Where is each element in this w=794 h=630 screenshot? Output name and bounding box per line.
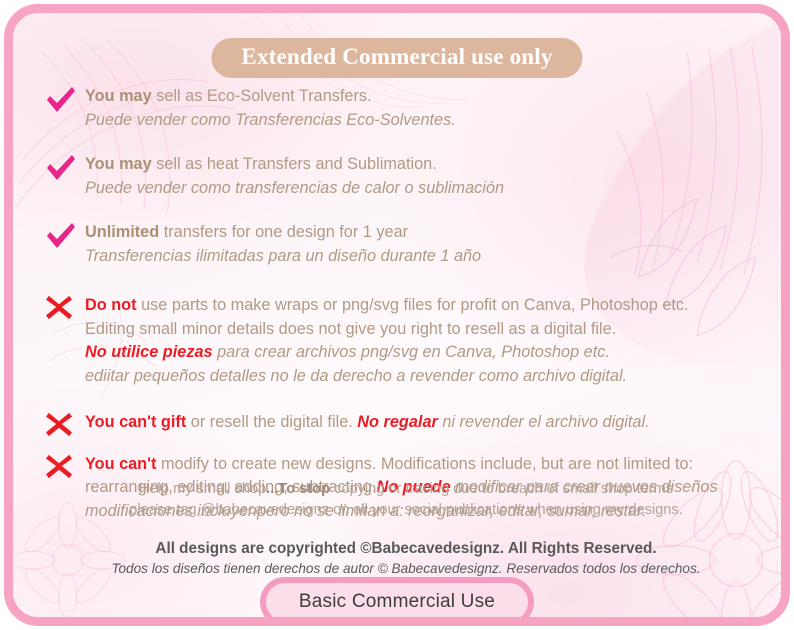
rule-line: Unlimited transfers for one design for 1… xyxy=(85,221,777,245)
rule-text-segment: You can't gift xyxy=(85,413,191,431)
rule-text: You may sell as heat Transfers and Subli… xyxy=(85,153,777,200)
rule-item: You may sell as heat Transfers and Subli… xyxy=(13,153,790,200)
shop-note-1a: Help my small shop xyxy=(139,481,266,497)
copyright-block: All designs are copyrighted ©Babecavedes… xyxy=(13,538,790,579)
rule-text-segment: transfers for one design for 1 year xyxy=(164,223,408,241)
rule-line: Editing small minor details does not giv… xyxy=(85,318,777,342)
rule-line: Do not use parts to make wraps or png/sv… xyxy=(85,294,777,318)
shop-note-line-1: Help my small shop...To stop copying or … xyxy=(13,479,790,500)
rule-text-segment: sell as Eco-Solvent Transfers. xyxy=(156,87,371,105)
rule-text-segment: ni revender el archivo digital. xyxy=(442,413,649,431)
rule-text: You can't gift or resell the digital fil… xyxy=(85,411,777,435)
shop-note: Help my small shop...To stop copying or … xyxy=(13,479,790,521)
rules-list: You may sell as Eco-Solvent Transfers.Pu… xyxy=(13,85,790,525)
copyright-en: All designs are copyrighted ©Babecavedes… xyxy=(13,538,790,559)
rule-text-segment: No regalar xyxy=(357,413,442,431)
rule-text-segment: ediitar pequeños detalles no le da derec… xyxy=(85,367,627,385)
header-title: Extended Commercial use only xyxy=(241,44,552,69)
check-icon xyxy=(45,85,77,115)
rule-text-segment: No utilice piezas xyxy=(85,343,217,361)
rule-text-segment: Unlimited xyxy=(85,223,164,241)
x-icon xyxy=(45,453,77,483)
rule-line: Puede vender como Transferencias Eco-Sol… xyxy=(85,109,777,133)
rule-line: Transferencias ilimitadas para un diseño… xyxy=(85,245,777,269)
check-icon xyxy=(45,221,77,251)
rule-text-segment: Do not xyxy=(85,296,141,314)
license-terms-card: Extended Commercial use only You may sel… xyxy=(4,4,790,626)
rule-text-segment: or resell the digital file. xyxy=(191,413,358,431)
rule-text-segment: Transferencias ilimitadas para un diseño… xyxy=(85,247,481,265)
rule-line: You may sell as Eco-Solvent Transfers. xyxy=(85,85,777,109)
x-icon xyxy=(45,294,77,324)
header-banner: Extended Commercial use only xyxy=(211,38,582,78)
rule-line: You can't gift or resell the digital fil… xyxy=(85,411,777,435)
basic-commercial-use-label: Basic Commercial Use xyxy=(299,591,495,613)
rule-item: Do not use parts to make wraps or png/sv… xyxy=(13,294,790,388)
rule-text-segment: modify to create new designs. Modificati… xyxy=(161,455,693,473)
check-icon xyxy=(45,153,77,183)
rule-text-segment: sell as heat Transfers and Sublimation. xyxy=(156,155,437,173)
rule-line: No utilice piezas para crear archivos pn… xyxy=(85,341,777,365)
rule-item: You can't gift or resell the digital fil… xyxy=(13,411,790,435)
rule-text-segment: Puede vender como Transferencias Eco-Sol… xyxy=(85,111,456,129)
rule-text-segment: You may xyxy=(85,155,156,173)
x-icon xyxy=(45,411,77,441)
rule-line: Puede vender como transferencias de calo… xyxy=(85,177,777,201)
rule-text: You may sell as Eco-Solvent Transfers.Pu… xyxy=(85,85,777,132)
rule-text-segment: Editing small minor details does not giv… xyxy=(85,320,616,338)
rule-text: Unlimited transfers for one design for 1… xyxy=(85,221,777,268)
rule-item: You may sell as Eco-Solvent Transfers.Pu… xyxy=(13,85,790,132)
rule-line: You can't modify to create new designs. … xyxy=(85,453,777,477)
rule-text: Do not use parts to make wraps or png/sv… xyxy=(85,294,777,388)
rule-text-segment: You may xyxy=(85,87,156,105)
rule-item: Unlimited transfers for one design for 1… xyxy=(13,221,790,268)
rule-text-segment: para crear archivos png/svg en Canva, Ph… xyxy=(217,343,610,361)
shop-note-1c: copying or tracing due to breach of smal… xyxy=(330,481,673,497)
shop-note-line-2: please tag @babecavedesignz on all your … xyxy=(13,500,790,521)
basic-commercial-use-badge[interactable]: Basic Commercial Use xyxy=(260,577,534,626)
footer-section: Help my small shop...To stop copying or … xyxy=(13,479,790,579)
copyright-es: Todos los diseños tienen derechos de aut… xyxy=(13,559,790,579)
rule-line: You may sell as heat Transfers and Subli… xyxy=(85,153,777,177)
rule-line: ediitar pequeños detalles no le da derec… xyxy=(85,365,777,389)
rule-text-segment: You can't xyxy=(85,455,161,473)
rule-text-segment: Puede vender como transferencias de calo… xyxy=(85,179,504,197)
rule-text-segment: use parts to make wraps or png/svg files… xyxy=(141,296,689,314)
shop-note-1b: ...To stop xyxy=(266,481,330,497)
